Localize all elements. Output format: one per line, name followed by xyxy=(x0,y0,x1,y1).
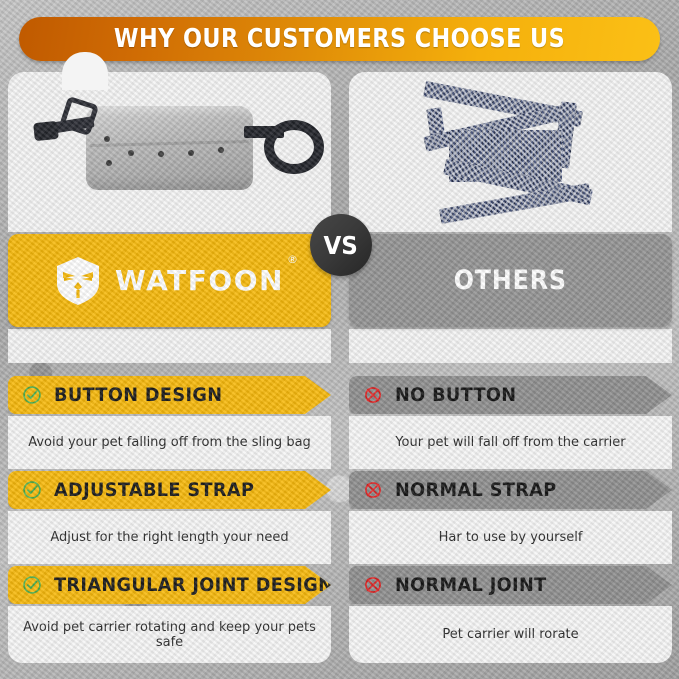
snap-button-icon xyxy=(104,136,110,142)
snap-button-icon xyxy=(106,160,112,166)
comparison-row: BUTTON DESIGN Avoid your pet falling off… xyxy=(0,376,679,471)
feature-pro-2: ADJUSTABLE STRAP Adjust for the right le… xyxy=(8,471,331,564)
feature-banner-pro: BUTTON DESIGN xyxy=(8,376,331,414)
feature-banner-pro: ADJUSTABLE STRAP xyxy=(8,471,331,509)
comparison-rows: BUTTON DESIGN Avoid your pet falling off… xyxy=(0,376,679,661)
feature-description-card: Har to use by yourself xyxy=(349,511,672,564)
brand-name-label: WATFOON xyxy=(115,264,284,297)
feature-title: NORMAL STRAP xyxy=(395,479,557,501)
green-check-circle-icon xyxy=(22,385,42,405)
red-cross-circle-icon xyxy=(363,385,383,405)
others-label: OTHERS xyxy=(454,265,567,296)
column-others: OTHERS xyxy=(349,72,672,363)
snap-button-icon xyxy=(128,150,134,156)
feature-title: ADJUSTABLE STRAP xyxy=(54,479,254,501)
product-photo-card-watfoon xyxy=(8,72,331,232)
feature-title: BUTTON DESIGN xyxy=(54,384,222,406)
snap-button-icon xyxy=(188,150,194,156)
red-cross-circle-icon xyxy=(363,575,383,595)
product-photo-card-others xyxy=(349,72,672,232)
feature-banner-pro: TRIANGULAR JOINT DESIGN xyxy=(8,566,331,604)
feature-description-card: Avoid your pet falling off from the slin… xyxy=(8,416,331,469)
infographic-canvas: WHY OUR CUSTOMERS CHOOSE US xyxy=(0,0,679,679)
feature-description: Your pet will fall off from the carrier xyxy=(395,435,625,450)
trademark-symbol: ® xyxy=(287,253,298,266)
red-cross-circle-icon xyxy=(363,480,383,500)
feature-description: Avoid pet carrier rotating and keep your… xyxy=(18,620,321,650)
page-title: WHY OUR CUSTOMERS CHOOSE US xyxy=(64,24,615,54)
feature-banner-con: NO BUTTON xyxy=(349,376,672,414)
vs-badge: VS xyxy=(310,214,372,276)
header-banner: WHY OUR CUSTOMERS CHOOSE US xyxy=(19,17,660,61)
feature-description: Har to use by yourself xyxy=(439,530,583,545)
feature-description-card: Adjust for the right length your need xyxy=(8,511,331,564)
header-tab-notch xyxy=(62,52,108,90)
snap-button-icon xyxy=(218,147,224,153)
feature-pro-3: TRIANGULAR JOINT DESIGN Avoid pet carrie… xyxy=(8,566,331,663)
feature-description-card: Your pet will fall off from the carrier xyxy=(349,416,672,469)
column-watfoon: WATFOON ® xyxy=(8,72,331,363)
feature-banner-con: NORMAL STRAP xyxy=(349,471,672,509)
feature-description-card: Pet carrier will rorate xyxy=(349,606,672,663)
product-image-sling-bag xyxy=(86,106,253,190)
feature-description-card: Avoid pet carrier rotating and keep your… xyxy=(8,606,331,663)
feature-banner-con: NORMAL JOINT xyxy=(349,566,672,604)
feature-con-1: NO BUTTON Your pet will fall off from th… xyxy=(349,376,672,469)
green-check-circle-icon xyxy=(22,480,42,500)
vs-label: VS xyxy=(324,231,358,260)
lion-head-logo-icon xyxy=(55,257,101,305)
feature-title: NO BUTTON xyxy=(395,384,516,406)
strap-buckle-icon xyxy=(33,121,59,141)
feature-title: TRIANGULAR JOINT DESIGN xyxy=(54,574,333,596)
snap-button-icon xyxy=(158,151,164,157)
brand-bar-watfoon: WATFOON ® xyxy=(8,234,331,327)
feature-description: Adjust for the right length your need xyxy=(50,530,288,545)
bag-flap-line xyxy=(90,140,249,147)
feature-title: NORMAL JOINT xyxy=(395,574,547,596)
spacer-strip-right xyxy=(349,329,672,363)
comparison-row: ADJUSTABLE STRAP Adjust for the right le… xyxy=(0,471,679,566)
comparison-row: TRIANGULAR JOINT DESIGN Avoid pet carrie… xyxy=(0,566,679,661)
feature-con-2: NORMAL STRAP Har to use by yourself xyxy=(349,471,672,564)
spacer-strip-left xyxy=(8,329,331,363)
feature-con-3: NORMAL JOINT Pet carrier will rorate xyxy=(349,566,672,663)
strap-loop-right xyxy=(264,120,324,174)
feature-description: Avoid your pet falling off from the slin… xyxy=(28,435,311,450)
feature-pro-1: BUTTON DESIGN Avoid your pet falling off… xyxy=(8,376,331,469)
feature-description: Pet carrier will rorate xyxy=(442,627,578,642)
green-check-circle-icon xyxy=(22,575,42,595)
brand-bar-others: OTHERS xyxy=(349,234,672,327)
product-image-others-carrier xyxy=(407,84,622,232)
